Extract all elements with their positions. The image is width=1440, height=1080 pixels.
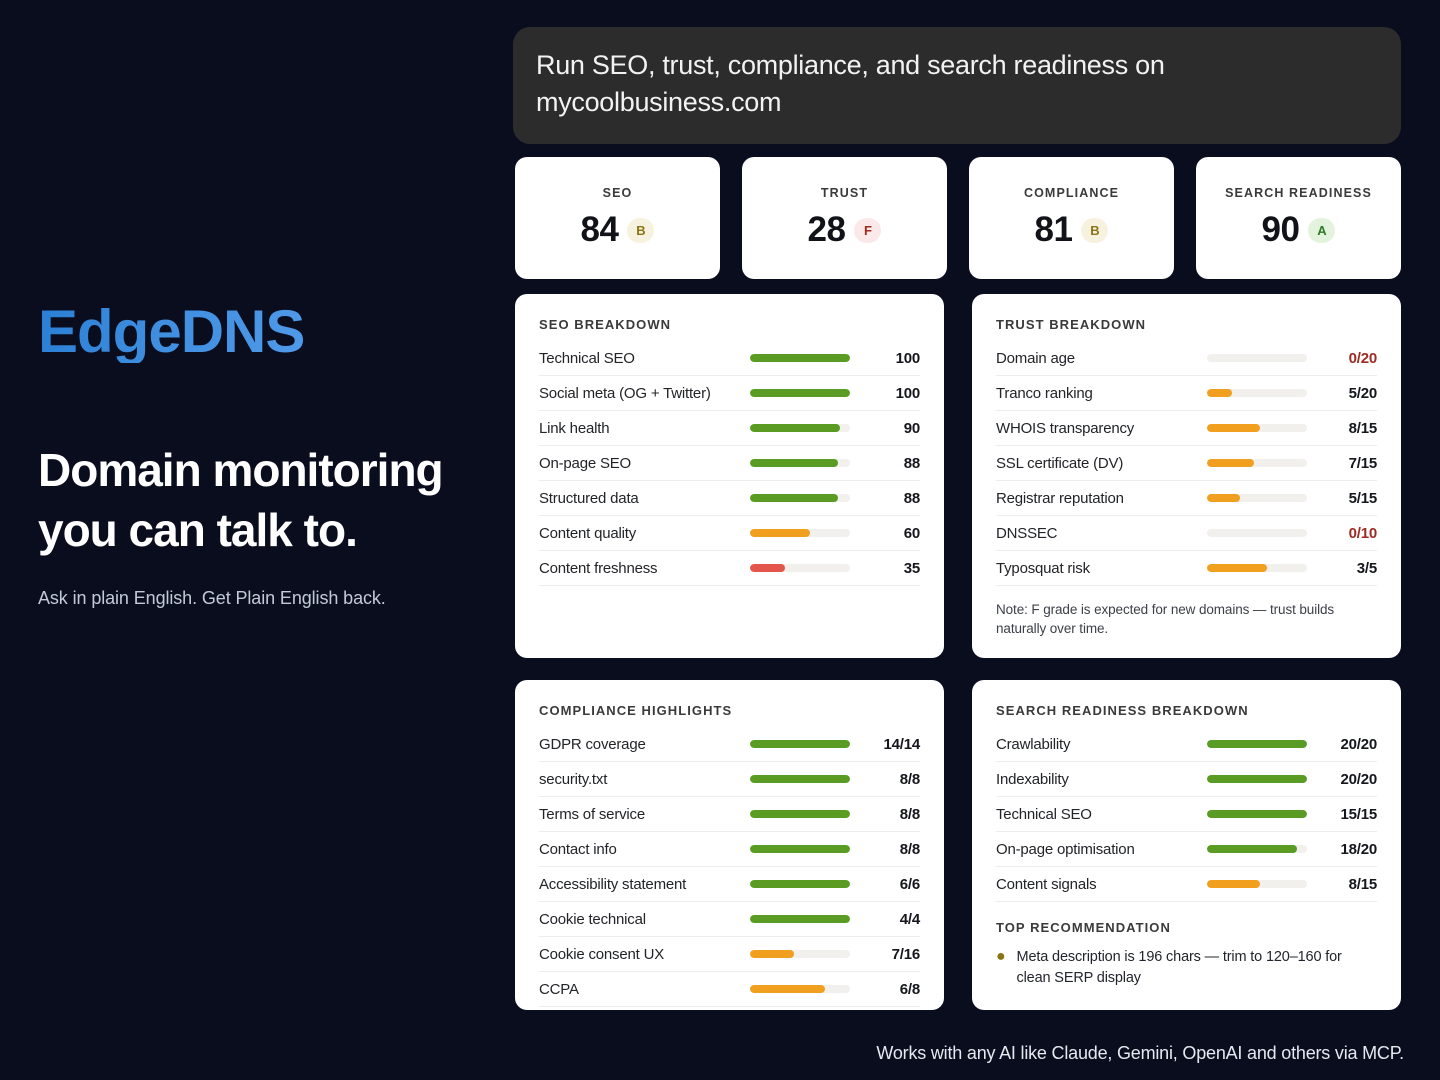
- metric-bar-track: [1207, 494, 1307, 502]
- metric-bar-track: [750, 775, 850, 783]
- grade-badge: B: [1081, 218, 1108, 243]
- metric-bar-fill: [1207, 880, 1260, 888]
- metric-bar-track: [1207, 810, 1307, 818]
- metric-bar-track: [750, 459, 850, 467]
- metric-row: On-page optimisation18/20: [996, 832, 1377, 867]
- metric-label: Tranco ranking: [996, 385, 1207, 402]
- footer-note: Works with any AI like Claude, Gemini, O…: [0, 1043, 1404, 1064]
- metric-bar-fill: [1207, 775, 1307, 783]
- metric-value: 15/15: [1325, 806, 1377, 823]
- panel-compliance-highlights: COMPLIANCE HIGHLIGHTSGDPR coverage14/14s…: [515, 680, 944, 1010]
- metric-row: Domain age0/20: [996, 341, 1377, 376]
- brand-column: EdgeDNS Domain monitoring you can talk t…: [38, 300, 508, 609]
- bullet-icon: ●: [996, 947, 1006, 988]
- metric-value: 4/4: [868, 911, 920, 928]
- metric-bar-track: [750, 354, 850, 362]
- metric-value: 60: [868, 525, 920, 542]
- metric-bar-track: [1207, 564, 1307, 572]
- metric-bar-fill: [750, 775, 850, 783]
- panel-trust-breakdown: TRUST BREAKDOWNDomain age0/20Tranco rank…: [972, 294, 1401, 658]
- metric-label: Technical SEO: [996, 806, 1207, 823]
- metric-bar-track: [750, 810, 850, 818]
- edgedns-wordmark: EdgeDNS: [38, 300, 304, 363]
- metric-value: 8/8: [868, 841, 920, 858]
- metric-row: Crawlability20/20: [996, 727, 1377, 762]
- metric-value: 3/5: [1325, 560, 1377, 577]
- metric-row: Indexability20/20: [996, 762, 1377, 797]
- metric-bar-track: [750, 985, 850, 993]
- metric-row: Technical SEO100: [539, 341, 920, 376]
- metric-row: WHOIS transparency8/15: [996, 411, 1377, 446]
- panel-title: COMPLIANCE HIGHLIGHTS: [539, 703, 920, 718]
- metric-bar-track: [750, 880, 850, 888]
- prompt-bubble: Run SEO, trust, compliance, and search r…: [513, 27, 1401, 144]
- metric-value: 0/10: [1325, 525, 1377, 542]
- metric-label: Accessibility statement: [539, 876, 750, 893]
- metric-value: 8/8: [868, 806, 920, 823]
- metric-value: 90: [868, 420, 920, 437]
- metric-label: SSL certificate (DV): [996, 455, 1207, 472]
- metric-bar-track: [750, 424, 850, 432]
- score-card-number: 28: [808, 210, 846, 250]
- metric-label: On-page optimisation: [996, 841, 1207, 858]
- metric-bar-fill: [750, 459, 838, 467]
- metric-value: 7/15: [1325, 455, 1377, 472]
- metric-label: Registrar reputation: [996, 490, 1207, 507]
- metric-value: 18/20: [1325, 841, 1377, 858]
- metric-label: Cookie consent UX: [539, 946, 750, 963]
- metric-label: Structured data: [539, 490, 750, 507]
- metric-bar-fill: [750, 740, 850, 748]
- metric-row: Tranco ranking5/20: [996, 376, 1377, 411]
- metric-bar-fill: [1207, 459, 1254, 467]
- metric-label: Terms of service: [539, 806, 750, 823]
- metric-label: Link health: [539, 420, 750, 437]
- metric-label: Domain age: [996, 350, 1207, 367]
- metric-bar-track: [1207, 354, 1307, 362]
- panel-title: TRUST BREAKDOWN: [996, 317, 1377, 332]
- metric-row: Accessibility statement6/6: [539, 867, 920, 902]
- panel-subtitle-recommendation: TOP RECOMMENDATION: [996, 920, 1377, 935]
- metric-value: 7/16: [868, 946, 920, 963]
- metric-bar-track: [750, 389, 850, 397]
- metric-bar-fill: [1207, 845, 1297, 853]
- metric-label: Content freshness: [539, 560, 750, 577]
- metric-row: CCPA6/8: [539, 972, 920, 1007]
- panel-title: SEO BREAKDOWN: [539, 317, 920, 332]
- metric-bar-fill: [750, 845, 850, 853]
- metric-label: DNSSEC: [996, 525, 1207, 542]
- metric-value: 6/6: [868, 876, 920, 893]
- grade-badge: B: [627, 218, 654, 243]
- metric-bar-track: [750, 915, 850, 923]
- metric-bar-track: [1207, 775, 1307, 783]
- score-card: TRUST28F: [742, 157, 947, 279]
- page-subtext: Ask in plain English. Get Plain English …: [38, 588, 508, 609]
- metric-bar-track: [750, 740, 850, 748]
- panel-search-readiness-breakdown: SEARCH READINESS BREAKDOWNCrawlability20…: [972, 680, 1401, 1010]
- metric-bar-fill: [750, 494, 838, 502]
- metric-label: Crawlability: [996, 736, 1207, 753]
- page-headline: Domain monitoring you can talk to.: [38, 441, 508, 561]
- metric-value: 35: [868, 560, 920, 577]
- metric-value: 88: [868, 455, 920, 472]
- score-card-value-row: 81B: [1035, 210, 1109, 250]
- metric-bar-fill: [750, 354, 850, 362]
- metric-row: GDPR coverage14/14: [539, 727, 920, 762]
- metric-bar-track: [1207, 424, 1307, 432]
- metric-bar-fill: [750, 389, 850, 397]
- metric-bar-fill: [1207, 389, 1232, 397]
- metric-bar-track: [1207, 740, 1307, 748]
- metric-row: Terms of service8/8: [539, 797, 920, 832]
- metric-bar-fill: [750, 424, 840, 432]
- score-card-label: SEO: [603, 186, 633, 200]
- score-card-number: 81: [1035, 210, 1073, 250]
- score-card-label: COMPLIANCE: [1024, 186, 1119, 200]
- score-card-number: 90: [1262, 210, 1300, 250]
- score-card: SEO84B: [515, 157, 720, 279]
- metric-row: Link health90: [539, 411, 920, 446]
- metric-row: Social meta (OG + Twitter)100: [539, 376, 920, 411]
- metric-value: 100: [868, 350, 920, 367]
- metric-bar-track: [750, 494, 850, 502]
- recommendation-item: ●Meta description is 196 chars — trim to…: [996, 947, 1377, 988]
- grade-badge: A: [1308, 218, 1335, 243]
- metric-row: Cookie consent UX7/16: [539, 937, 920, 972]
- metric-value: 14/14: [868, 736, 920, 753]
- metric-row: SSL certificate (DV)7/15: [996, 446, 1377, 481]
- metric-value: 88: [868, 490, 920, 507]
- panel-grid: SEO BREAKDOWNTechnical SEO100Social meta…: [515, 294, 1401, 1010]
- metric-bar-fill: [750, 985, 825, 993]
- metric-bar-fill: [750, 915, 850, 923]
- metric-label: Social meta (OG + Twitter): [539, 385, 750, 402]
- metric-row: Content quality60: [539, 516, 920, 551]
- metric-value: 0/20: [1325, 350, 1377, 367]
- metric-label: Content signals: [996, 876, 1207, 893]
- metric-row: Typosquat risk3/5: [996, 551, 1377, 586]
- metric-row: Registrar reputation5/15: [996, 481, 1377, 516]
- score-card: SEARCH READINESS90A: [1196, 157, 1401, 279]
- metric-value: 8/15: [1325, 876, 1377, 893]
- metric-label: Cookie technical: [539, 911, 750, 928]
- metric-bar-track: [750, 529, 850, 537]
- metric-label: Indexability: [996, 771, 1207, 788]
- score-card-label: TRUST: [821, 186, 868, 200]
- metric-label: Typosquat risk: [996, 560, 1207, 577]
- metric-label: Technical SEO: [539, 350, 750, 367]
- metric-label: security.txt: [539, 771, 750, 788]
- metric-label: WHOIS transparency: [996, 420, 1207, 437]
- grade-badge: F: [854, 218, 881, 243]
- metric-bar-track: [1207, 845, 1307, 853]
- metric-row: Cookie technical4/4: [539, 902, 920, 937]
- panel-note: Note: F grade is expected for new domain…: [996, 600, 1377, 638]
- score-card-label: SEARCH READINESS: [1225, 186, 1372, 200]
- metric-row: Technical SEO15/15: [996, 797, 1377, 832]
- metric-value: 20/20: [1325, 771, 1377, 788]
- metric-label: Contact info: [539, 841, 750, 858]
- metric-bar-track: [1207, 459, 1307, 467]
- metric-value: 6/8: [868, 981, 920, 998]
- metric-bar-fill: [750, 529, 810, 537]
- score-card-row: SEO84BTRUST28FCOMPLIANCE81BSEARCH READIN…: [515, 157, 1401, 279]
- metric-label: CCPA: [539, 981, 750, 998]
- metric-bar-track: [750, 564, 850, 572]
- metric-value: 100: [868, 385, 920, 402]
- metric-value: 8/15: [1325, 420, 1377, 437]
- metric-row: security.txt8/8: [539, 762, 920, 797]
- score-card-number: 84: [581, 210, 619, 250]
- metric-row: Content signals8/15: [996, 867, 1377, 902]
- recommendation-text: Meta description is 196 chars — trim to …: [1017, 947, 1377, 988]
- metric-label: GDPR coverage: [539, 736, 750, 753]
- metric-value: 20/20: [1325, 736, 1377, 753]
- metric-bar-fill: [1207, 810, 1307, 818]
- metric-value: 5/15: [1325, 490, 1377, 507]
- metric-bar-fill: [750, 880, 850, 888]
- metric-bar-fill: [1207, 740, 1307, 748]
- metric-value: 8/8: [868, 771, 920, 788]
- metric-bar-fill: [1207, 424, 1260, 432]
- metric-label: Content quality: [539, 525, 750, 542]
- metric-label: On-page SEO: [539, 455, 750, 472]
- prompt-text: Run SEO, trust, compliance, and search r…: [536, 47, 1378, 122]
- metric-bar-fill: [750, 564, 785, 572]
- score-card-value-row: 28F: [808, 210, 882, 250]
- metric-value: 5/20: [1325, 385, 1377, 402]
- metric-bar-fill: [1207, 494, 1240, 502]
- metric-bar-fill: [750, 810, 850, 818]
- metric-bar-track: [750, 845, 850, 853]
- score-card-value-row: 84B: [581, 210, 655, 250]
- panel-title: SEARCH READINESS BREAKDOWN: [996, 703, 1377, 718]
- metric-row: DNSSEC0/10: [996, 516, 1377, 551]
- metric-row: Structured data88: [539, 481, 920, 516]
- metric-row: Content freshness35: [539, 551, 920, 586]
- score-card-value-row: 90A: [1262, 210, 1336, 250]
- score-card: COMPLIANCE81B: [969, 157, 1174, 279]
- metric-bar-track: [1207, 529, 1307, 537]
- metric-row: Contact info8/8: [539, 832, 920, 867]
- metric-bar-track: [750, 950, 850, 958]
- metric-bar-fill: [1207, 564, 1267, 572]
- metric-bar-fill: [750, 950, 794, 958]
- metric-bar-track: [1207, 880, 1307, 888]
- recommendation-list: ●Meta description is 196 chars — trim to…: [996, 947, 1377, 988]
- metric-bar-track: [1207, 389, 1307, 397]
- panel-seo-breakdown: SEO BREAKDOWNTechnical SEO100Social meta…: [515, 294, 944, 658]
- metric-row: On-page SEO88: [539, 446, 920, 481]
